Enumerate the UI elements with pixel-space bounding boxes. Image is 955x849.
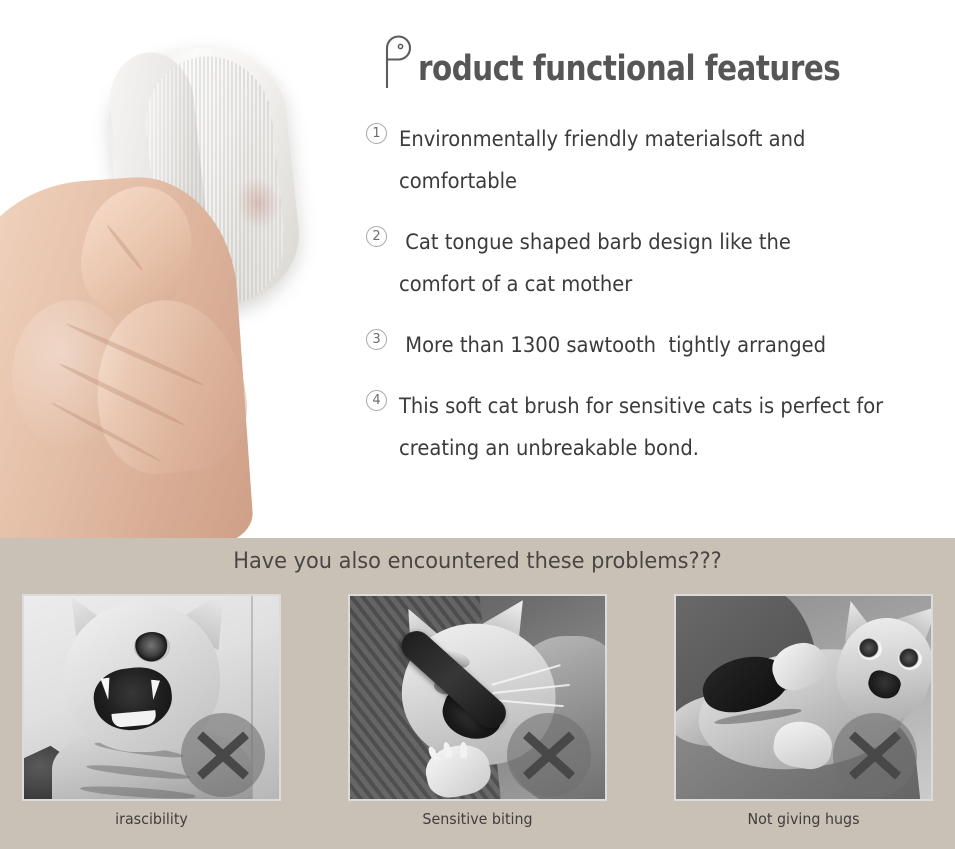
problem-card-list: irascibility xyxy=(22,594,933,828)
problem-photo-hissing-cat xyxy=(22,594,281,801)
problem-caption: irascibility xyxy=(28,810,274,828)
problems-section: Have you also encountered these problems… xyxy=(0,538,955,849)
problem-caption: Not giving hugs xyxy=(680,810,926,828)
problem-card: Sensitive biting xyxy=(348,594,607,828)
feature-text: Cat tongue shaped barb design like the c… xyxy=(399,221,864,305)
feature-text: Environmentally friendly materialsoft an… xyxy=(399,118,883,202)
feature-item-4: 4 This soft cat brush for sensitive cats… xyxy=(366,385,926,469)
problem-caption: Sensitive biting xyxy=(354,810,600,828)
product-features-section: roduct functional features 1 Environment… xyxy=(0,0,955,538)
feature-number-badge: 4 xyxy=(366,390,387,411)
cat-eye xyxy=(134,632,170,662)
decorative-p-letter-icon xyxy=(383,34,417,90)
feature-item-2: 2 Cat tongue shaped barb design like the… xyxy=(366,221,926,305)
knuckle-shading xyxy=(12,300,132,450)
x-mark-badge xyxy=(181,713,265,797)
cat-eye xyxy=(898,648,922,670)
product-photo-hand-holding-brush xyxy=(0,0,350,538)
feature-text: More than 1300 sawtooth tightly arranged xyxy=(399,324,826,366)
feature-number-badge: 3 xyxy=(366,329,387,350)
problem-card: Not giving hugs xyxy=(674,594,933,828)
feature-list: 1 Environmentally friendly materialsoft … xyxy=(366,118,926,488)
cat-eye xyxy=(858,638,882,660)
problem-photo-biting-cat xyxy=(348,594,607,801)
problem-card: irascibility xyxy=(22,594,281,828)
feature-number-badge: 2 xyxy=(366,226,387,247)
problems-heading: Have you also encountered these problems… xyxy=(24,549,931,574)
x-mark-badge xyxy=(833,713,917,797)
page-title: roduct functional features xyxy=(383,34,921,90)
feature-text: This soft cat brush for sensitive cats i… xyxy=(399,385,889,469)
page-title-text: roduct functional features xyxy=(418,52,840,87)
feature-item-1: 1 Environmentally friendly materialsoft … xyxy=(366,118,926,202)
problem-photo-held-cat xyxy=(674,594,933,801)
feature-item-3: 3 More than 1300 sawtooth tightly arrang… xyxy=(366,324,926,366)
feature-number-badge: 1 xyxy=(366,123,387,144)
x-mark-badge xyxy=(507,713,591,797)
